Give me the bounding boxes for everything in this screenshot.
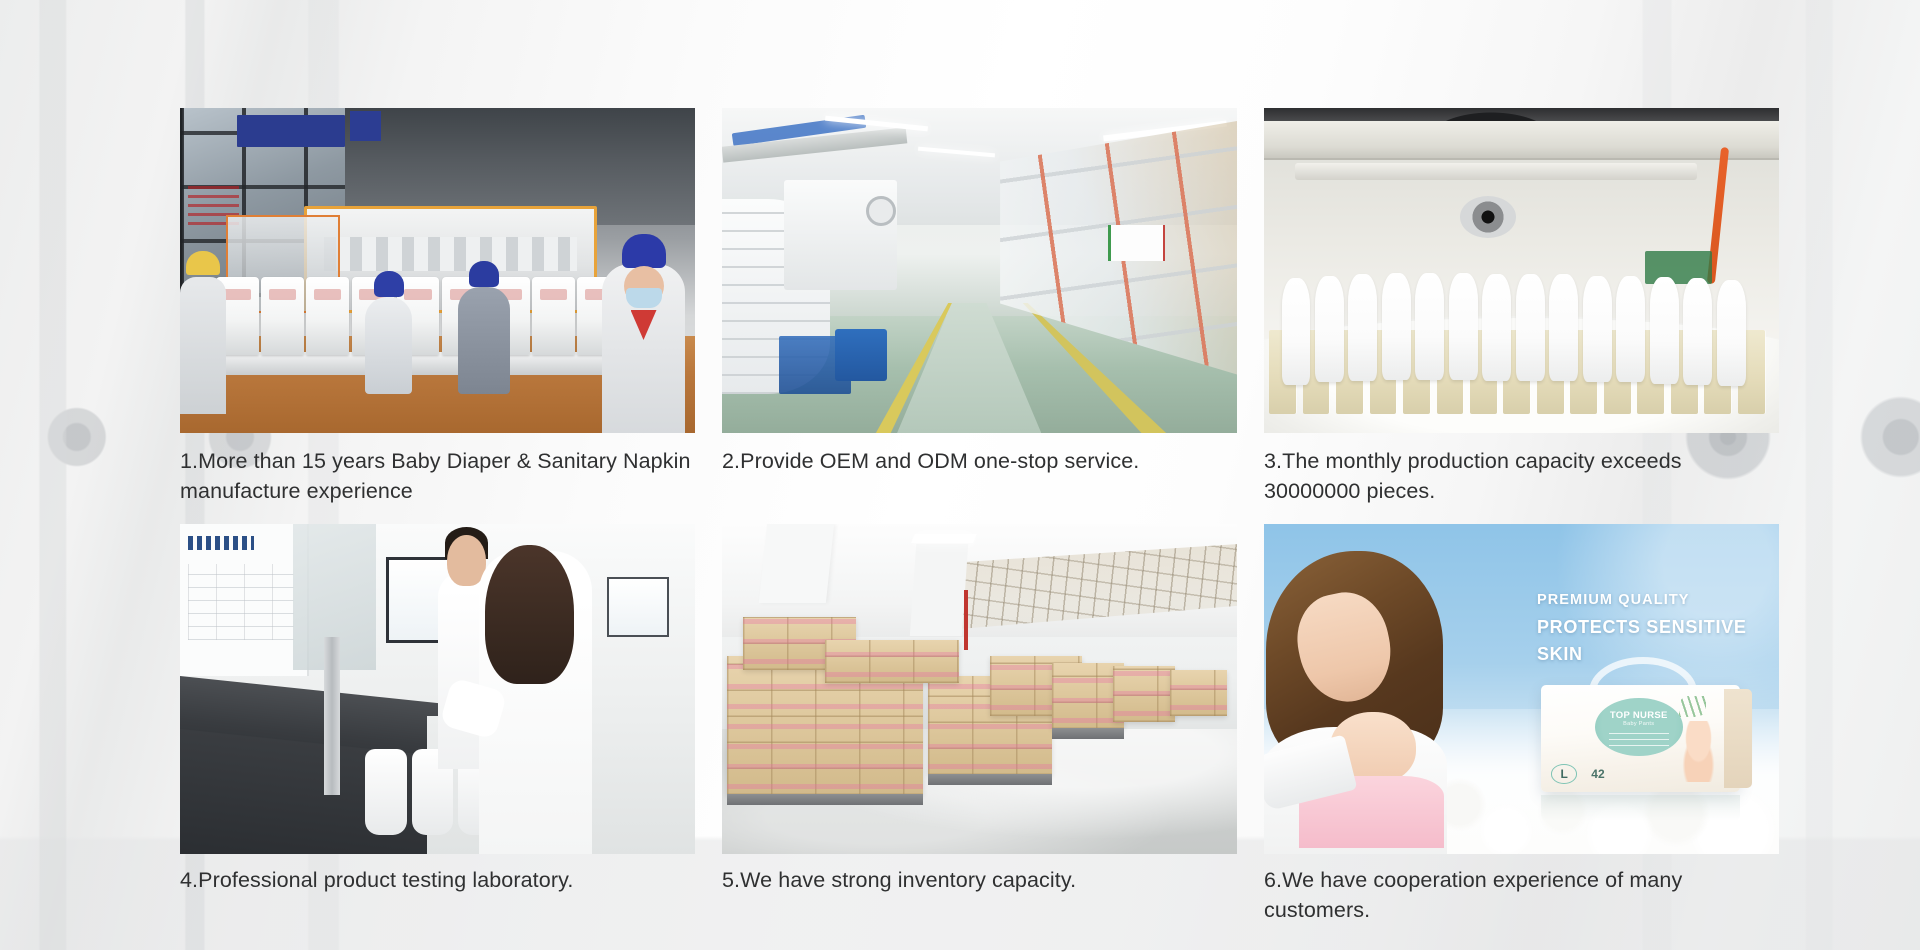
hard-hat: [186, 251, 220, 275]
leaf-graphic-icon: [1679, 696, 1707, 717]
worker-center: [458, 287, 510, 394]
package-baby-photo: [1675, 721, 1723, 781]
gallery-caption-5: 5.We have strong inventory capacity.: [722, 866, 1237, 896]
lab-info-poster: [180, 524, 309, 676]
test-vessel: [365, 749, 406, 835]
worker-yellow-cap: [180, 277, 226, 414]
gallery-item-5[interactable]: 5.We have strong inventory capacity.: [722, 524, 1237, 925]
diaper-unit: [1717, 280, 1746, 387]
blue-cap: [374, 271, 404, 297]
ceiling-beam: [909, 544, 967, 636]
pressure-gauge: [866, 196, 896, 226]
blue-signboard-secondary: [350, 111, 381, 140]
worker-left: [365, 297, 411, 395]
machine-top-beam: [1264, 121, 1779, 160]
worker-right-foreground: [602, 264, 684, 433]
gantry-rail: [1295, 163, 1697, 179]
product-pack-row: [216, 277, 659, 355]
brand-name: TOP NURSE: [1595, 710, 1683, 721]
blue-cap: [622, 234, 666, 268]
gallery-item-6[interactable]: PREMIUM QUALITY PROTECTS SENSITIVE SKIN …: [1264, 524, 1779, 925]
brand-logo-badge: TOP NURSE Baby Pants: [1595, 698, 1683, 756]
diaper-unit: [1315, 276, 1344, 383]
red-fire-pipe: [964, 590, 968, 649]
brand-subtitle: Baby Pants: [1595, 721, 1683, 727]
red-collar-scarf: [631, 310, 657, 340]
wooden-pallet: [928, 774, 1052, 785]
capability-gallery: 1.More than 15 years Baby Diaper & Sanit…: [180, 108, 1784, 926]
diaper-unit: [1683, 278, 1712, 385]
gallery-caption-3: 3.The monthly production capacity exceed…: [1264, 447, 1779, 506]
carton-stack: [825, 640, 959, 683]
package-count-badge: 42: [1583, 764, 1613, 783]
lab-stand-rod: [324, 637, 339, 795]
gallery-caption-2: 2.Provide OEM and ODM one-stop service.: [722, 447, 1237, 477]
rotary-packaging-photo[interactable]: [1264, 108, 1779, 433]
diaper-unit: [1449, 273, 1478, 380]
diaper-unit: [1415, 273, 1444, 380]
gallery-caption-6: 6.We have cooperation experience of many…: [1264, 866, 1779, 925]
product-pack: [532, 277, 575, 355]
gallery-caption-4: 4.Professional product testing laborator…: [180, 866, 695, 896]
gallery-item-3[interactable]: 3.The monthly production capacity exceed…: [1264, 108, 1779, 506]
diaper-unit: [1616, 276, 1645, 383]
blue-signboard: [237, 115, 345, 148]
face-mask: [626, 288, 662, 308]
page-root: 1.More than 15 years Baby Diaper & Sanit…: [0, 0, 1920, 950]
carton-stack: [1170, 670, 1227, 716]
gallery-caption-1: 1.More than 15 years Baby Diaper & Sanit…: [180, 447, 695, 506]
blue-waste-bin: [835, 329, 887, 381]
rotary-motor-hub: [1460, 196, 1517, 238]
diaper-unit: [1382, 273, 1411, 380]
warehouse-inventory-photo[interactable]: [722, 524, 1237, 854]
wall-notice-poster: [1108, 225, 1165, 261]
production-line-photo[interactable]: [180, 108, 695, 433]
diaper-unit: [1650, 277, 1679, 384]
ceiling-led-lamp: [911, 534, 976, 543]
ad-headline: PREMIUM QUALITY PROTECTS SENSITIVE SKIN: [1537, 590, 1769, 668]
customer-cooperation-photo[interactable]: PREMIUM QUALITY PROTECTS SENSITIVE SKIN …: [1264, 524, 1779, 854]
lab-technician-female: [479, 551, 592, 855]
product-pack: [306, 277, 349, 355]
carton-stack: [1113, 666, 1175, 722]
testing-laboratory-photo[interactable]: [180, 524, 695, 854]
diaper-carousel: [1264, 284, 1779, 414]
feature-text-lines: [1609, 729, 1669, 746]
wooden-pallet: [1052, 728, 1124, 739]
ceiling-beam: [759, 524, 834, 603]
factory-corridor-photo[interactable]: [722, 108, 1237, 433]
package-bag: TOP NURSE Baby Pants L 42: [1541, 685, 1740, 792]
blue-cap: [469, 261, 499, 287]
diaper-unit: [1583, 276, 1612, 383]
product-package: TOP NURSE Baby Pants L 42: [1537, 676, 1753, 821]
hair: [485, 545, 573, 685]
gallery-item-1[interactable]: 1.More than 15 years Baby Diaper & Sanit…: [180, 108, 695, 506]
gallery-item-2[interactable]: 2.Provide OEM and ODM one-stop service.: [722, 108, 1237, 506]
diaper-unit: [1516, 274, 1545, 381]
diaper-unit: [1282, 278, 1311, 385]
diaper-unit: [1482, 274, 1511, 381]
package-size-badge: L: [1551, 764, 1577, 783]
gallery-item-4[interactable]: 4.Professional product testing laborator…: [180, 524, 695, 925]
lab-window: [607, 577, 669, 636]
diaper-unit: [1348, 274, 1377, 381]
product-pack: [261, 277, 304, 355]
diaper-unit: [1549, 274, 1578, 381]
package-reflection: [1541, 795, 1740, 821]
ad-headline-line1: PREMIUM QUALITY: [1537, 590, 1769, 612]
wooden-pallet: [727, 794, 923, 805]
